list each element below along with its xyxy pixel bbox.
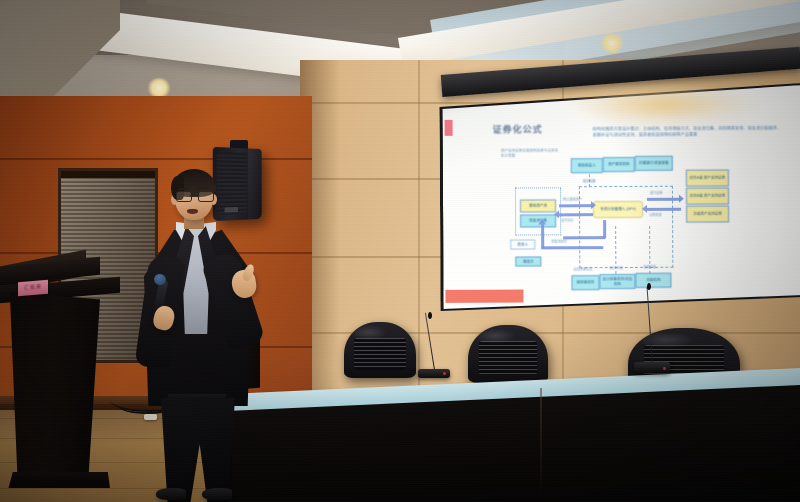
screen-light-glare — [562, 81, 762, 128]
slide-left-note: 资产支持证券交易结构及参与主体关系示意图 — [501, 148, 559, 158]
presenter — [140, 168, 270, 502]
presenter-shoe-left — [156, 488, 186, 500]
chair-highlight — [474, 328, 516, 343]
slide-arrow-mid-return — [563, 236, 605, 239]
slide-flow-label-6: 现金流划付 — [551, 238, 567, 243]
slide-title: 证券化公式 — [493, 122, 543, 135]
conference-table-seam — [540, 388, 542, 498]
slide-box-left-1: 基础资产池 — [520, 199, 556, 212]
slide-arrow-left-out — [559, 213, 593, 216]
eyeglasses-icon — [176, 191, 212, 200]
slide-arrowhead-bottom-feed — [538, 219, 546, 224]
slide-flow-label-5: 服务报酬 — [583, 178, 596, 183]
slide-arrowhead-right-in — [642, 205, 647, 213]
mic-stem — [425, 313, 435, 371]
speaker-podium[interactable]: 汇报席 — [0, 258, 120, 490]
presenter-shoe-right — [202, 488, 232, 500]
slide-flow-label-9: 信用评级 — [643, 264, 656, 269]
conference-chair-2[interactable] — [468, 325, 548, 383]
slide-box-debtor: 债务人 — [510, 239, 535, 249]
slide-box-right-3: 次级资产支持证券 — [686, 205, 729, 222]
mic-stem — [647, 287, 654, 365]
mic-button[interactable] — [443, 372, 446, 375]
slide-arrowhead-left-out — [554, 210, 559, 218]
slide-arrowhead-right-out — [679, 195, 684, 203]
chair-mesh — [479, 341, 537, 375]
slide-flow-label-4: 认购资金 — [649, 212, 662, 217]
slide-box-bottom-2: 会计师事务所/评估机构 — [599, 274, 635, 289]
chair-mesh — [354, 338, 406, 370]
podium-body — [4, 292, 100, 477]
gooseneck-microphone-1[interactable] — [418, 312, 450, 378]
slide-box-bottom-1: 律师事务所 — [571, 275, 599, 290]
projection-screen: 证券化公式 结构化融资方案设计要点：主体结构、信用增级方式、现金流归集、风险隔离… — [442, 85, 800, 319]
presenter-mouth — [187, 209, 198, 214]
conference-room-photo: 证券化公式 结构化融资方案设计要点：主体结构、信用增级方式、现金流归集、风险隔离… — [0, 0, 800, 502]
downlight-left — [147, 78, 171, 98]
presenter-brow-right — [198, 187, 209, 189]
mic-capsule — [428, 312, 432, 319]
slide-arrow-right-out — [647, 198, 681, 201]
slide-accent-top-left — [445, 120, 453, 136]
slide-arrow-right-in — [647, 208, 681, 211]
slide-arrow-bottom-feed-v — [541, 224, 544, 248]
slide-box-top-2: 资产服务机构 — [603, 157, 635, 172]
mic-capsule — [647, 283, 651, 290]
downlight-right — [600, 33, 624, 53]
slide-flow-label-3: 发行证券 — [650, 190, 663, 195]
podium-name-label-text: 汇报席 — [18, 280, 48, 297]
slide-arrow-mid-return-v — [603, 220, 606, 238]
slide-box-credit-enhancer: 增信方 — [515, 256, 541, 266]
presenter-trousers — [156, 398, 240, 502]
mic-button[interactable] — [663, 367, 666, 370]
slide-box-right-2: 优先B级 资产支持证券 — [686, 187, 729, 204]
presenter-brow-left — [178, 188, 189, 190]
podium-name-label: 汇报席 — [18, 280, 48, 297]
slide-box-top-3: 托管银行/资金保管 — [635, 156, 673, 171]
slide-flow-label-7: 出具法律意见 — [573, 266, 592, 271]
slide-box-spv: 专项计划管理人 (SPV) — [593, 201, 643, 218]
slide-box-right-1: 优先A级 资产支持证券 — [686, 169, 729, 186]
slide-arrow-bottom-feed — [541, 246, 603, 249]
chair-highlight — [350, 325, 387, 340]
slide-accent-bottom-left — [445, 290, 523, 303]
slide-flow-label-8: 审计/评估 — [609, 265, 623, 270]
slide-box-top-1: 原始权益人 — [571, 158, 603, 173]
conference-chair-1[interactable] — [344, 322, 416, 378]
podium-base — [2, 472, 110, 488]
gooseneck-microphone-2[interactable] — [634, 285, 670, 373]
slide-arrowhead-left-in — [591, 201, 596, 209]
slide-flow-label-2: 支付对价 — [561, 217, 574, 222]
slide-arrow-left-in — [559, 204, 593, 207]
slide-flow-label-1: 转让基础资产 — [563, 196, 582, 201]
